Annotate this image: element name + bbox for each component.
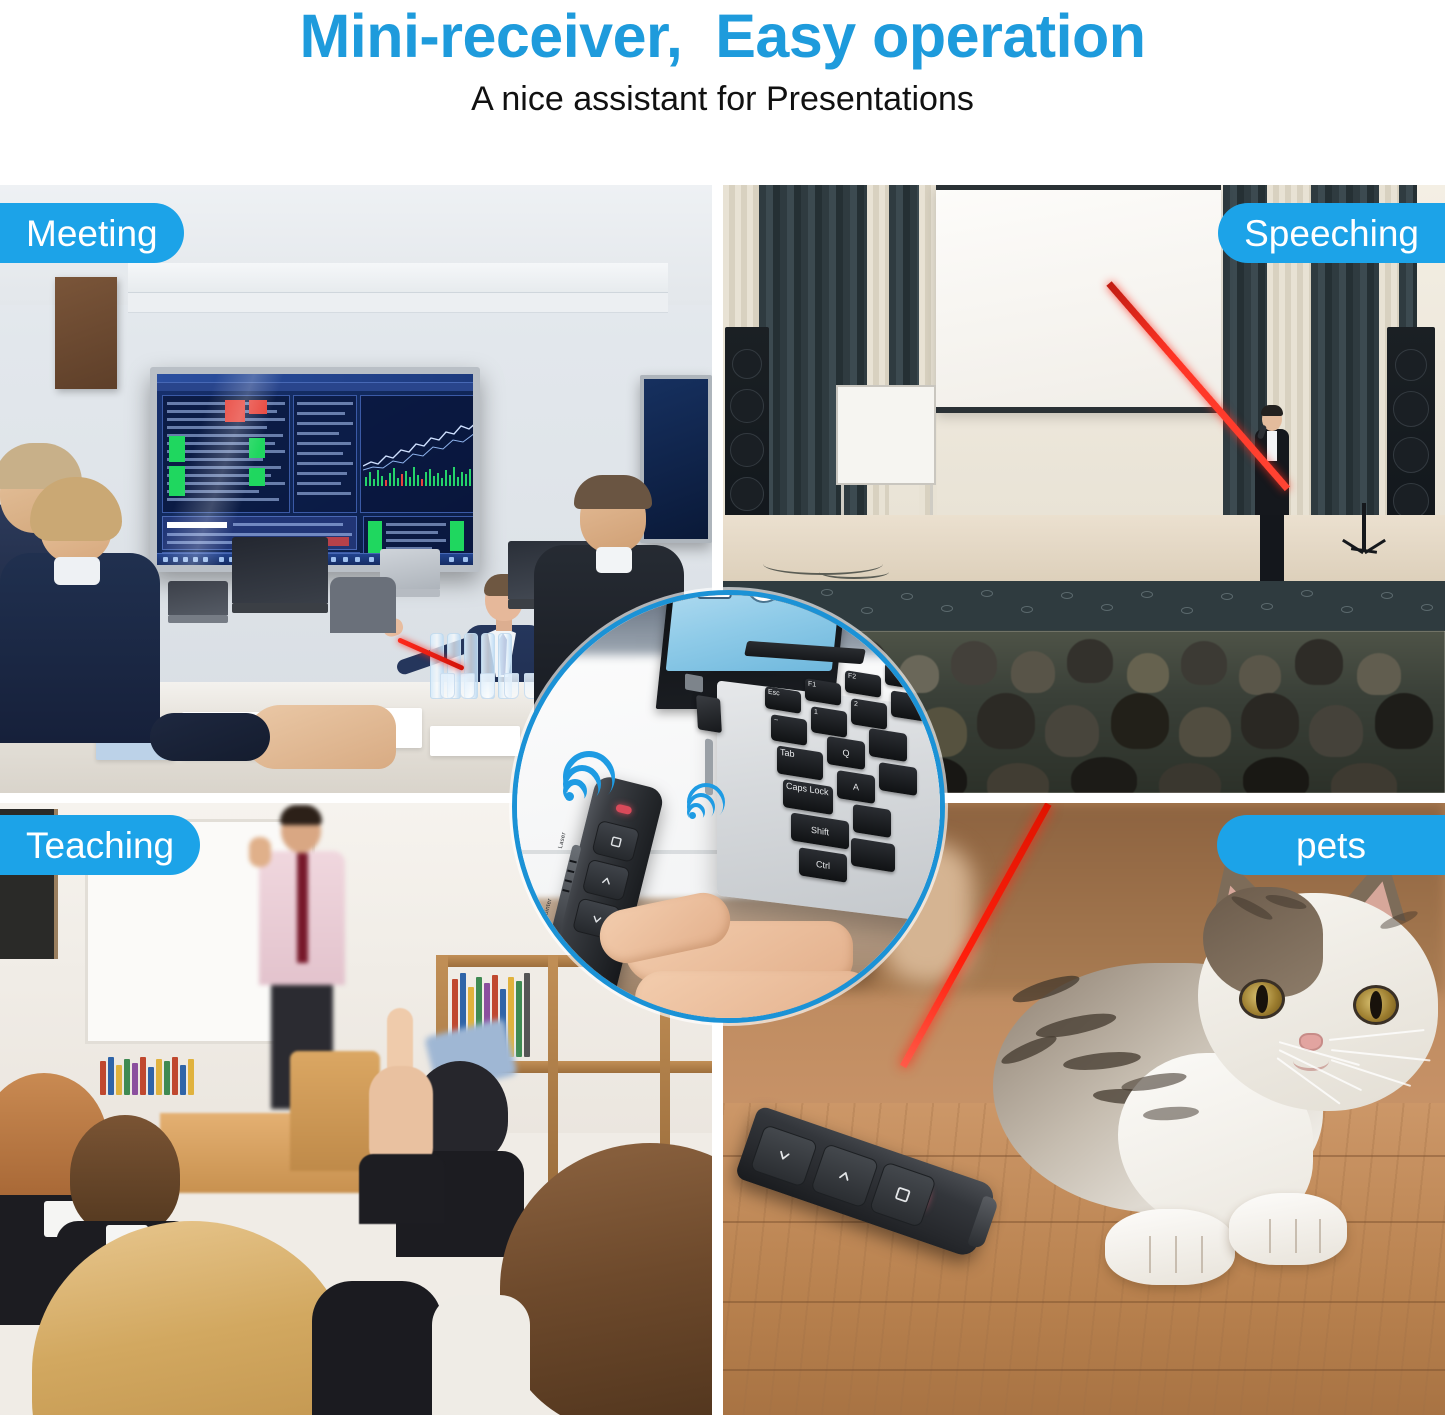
page-title: Mini-receiver, Easy operation [0, 2, 1445, 70]
cat-eye-left [1239, 979, 1285, 1019]
key-shift[interactable]: Shift [791, 812, 849, 849]
wifi-waves-remote [563, 745, 621, 803]
key-s[interactable] [879, 762, 917, 796]
speaker-person [1253, 407, 1291, 592]
laptop-keyboard: Esc F1 F2 ~ 1 2 Tab Q Caps Lock A Shift … [765, 665, 945, 895]
badge-pets: pets [1217, 815, 1445, 875]
laptop [232, 603, 328, 613]
key-a[interactable]: A [837, 770, 875, 804]
laptop-closeup: Esc F1 F2 ~ 1 2 Tab Q Caps Lock A Shift … [657, 590, 945, 919]
key-tilde[interactable]: ~ [771, 714, 807, 746]
laptop [168, 615, 228, 623]
key-2[interactable]: 2 [851, 698, 887, 730]
cat-eye-right [1353, 985, 1399, 1025]
wifi-waves-receiver [687, 777, 731, 821]
cat-paw [1105, 1209, 1235, 1285]
key-ctrl[interactable]: Ctrl [799, 847, 847, 883]
header-block: Mini-receiver, Easy operation A nice ass… [0, 0, 1445, 125]
key-f2[interactable]: F2 [845, 670, 881, 698]
badge-meeting: Meeting [0, 203, 184, 263]
key-3[interactable] [891, 690, 925, 721]
projection-screen [936, 185, 1221, 413]
key-f1[interactable]: F1 [805, 678, 841, 706]
speaker-stand [1341, 515, 1387, 583]
cat [993, 893, 1445, 1333]
finder-icon [697, 590, 734, 599]
whiteboard [836, 385, 936, 485]
side-monitor [640, 375, 712, 543]
key-f3[interactable] [885, 662, 917, 689]
page-subtitle: A nice assistant for Presentations [0, 73, 1445, 125]
key-z[interactable] [853, 804, 891, 838]
product-closeup-circle: Esc F1 F2 ~ 1 2 Tab Q Caps Lock A Shift … [512, 590, 945, 1023]
key-1[interactable]: 1 [811, 706, 847, 738]
student [70, 1115, 180, 1235]
raised-hand [355, 1008, 443, 1218]
key-alt[interactable] [851, 838, 895, 873]
key-w[interactable] [869, 728, 907, 762]
cat-paw [1229, 1193, 1347, 1265]
hand-holding-remote [625, 917, 915, 1023]
wall-cabinet [55, 277, 117, 389]
badge-teaching: Teaching [0, 815, 200, 875]
usb-port [685, 673, 703, 692]
badge-speeching: Speeching [1218, 203, 1445, 263]
usb-mini-receiver [696, 695, 722, 733]
key-esc[interactable]: Esc [765, 686, 801, 714]
key-tab[interactable]: Tab [777, 745, 823, 780]
key-q[interactable]: Q [827, 736, 865, 770]
key-caps-lock[interactable]: Caps Lock [783, 779, 833, 815]
